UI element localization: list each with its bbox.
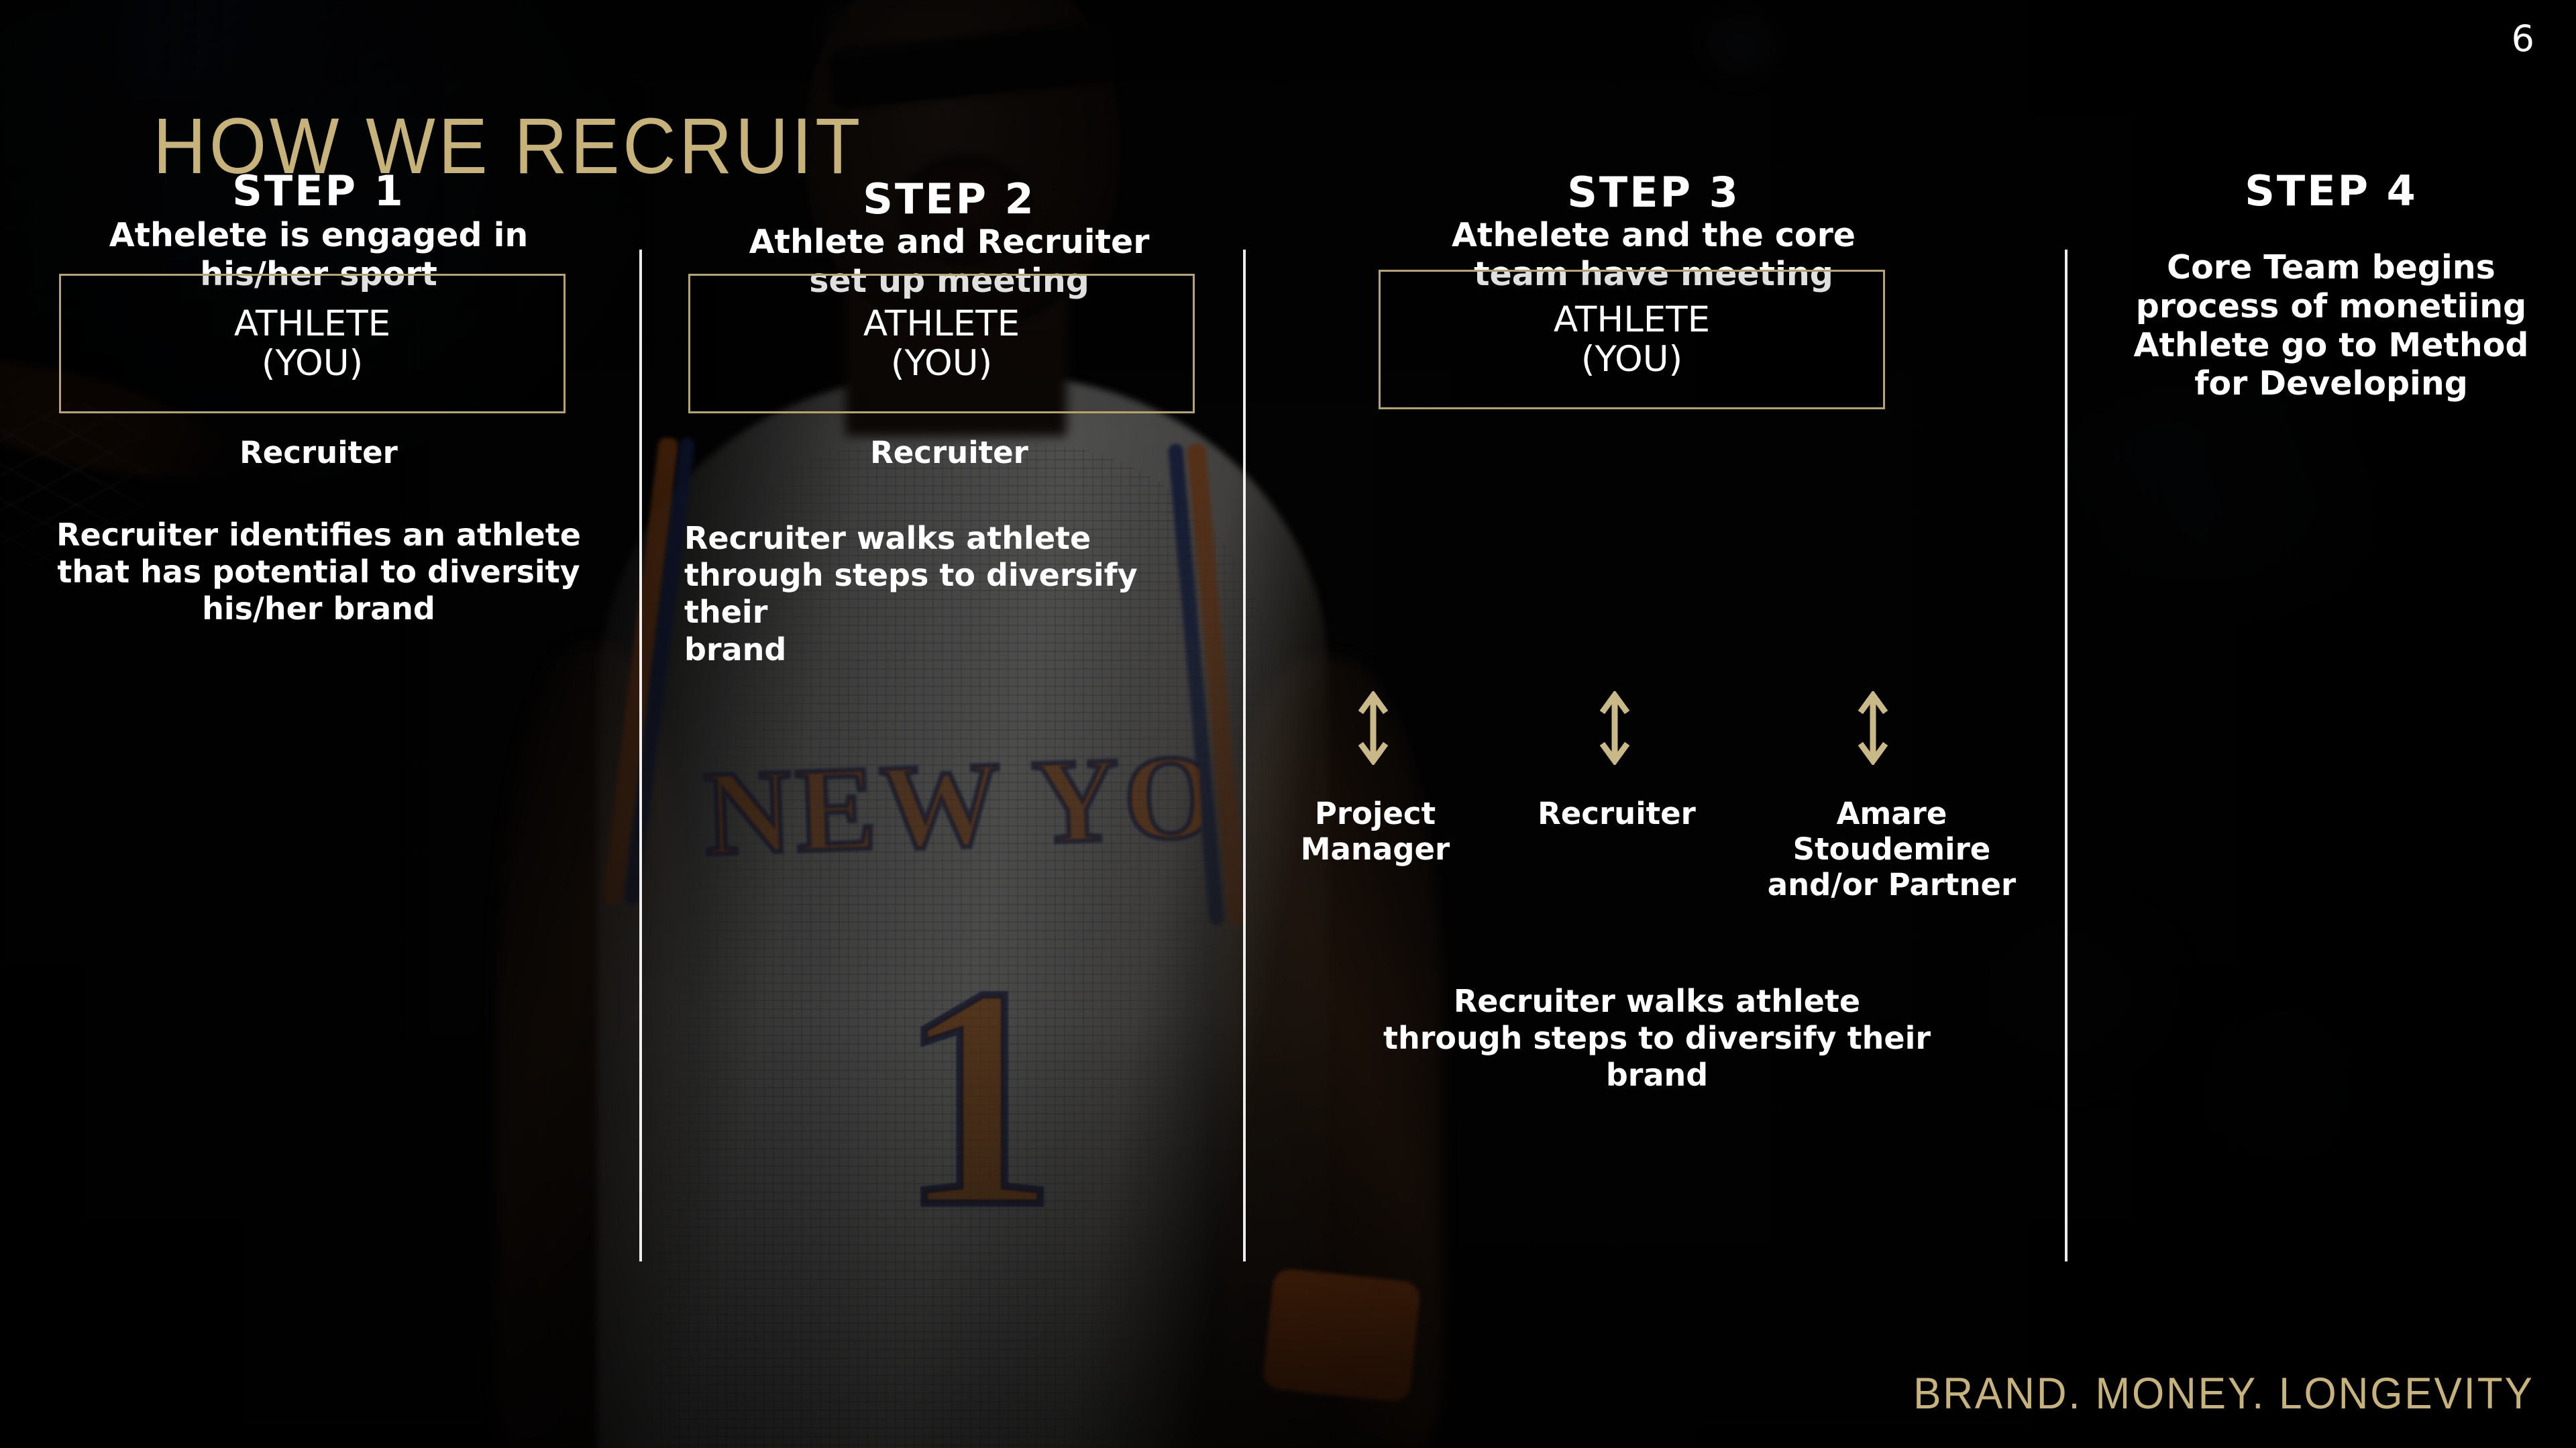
step-3-body-text: Recruiter walks athlete through steps to… [1295,983,2019,1094]
double-arrow-icon-project-manager [1358,691,1388,765]
slide-content: 6 HOW WE RECRUIT STEP 1 Athelete is enga… [0,0,2576,1448]
step-1-role-recruiter: Recruiter [20,435,617,470]
athlete-box-3: ATHLETE (YOU) [1379,270,1885,409]
step-2-body-text: Recruiter walks athlete through steps to… [684,520,1228,668]
column-divider-3 [2065,250,2068,1261]
step-4-description: Core Team begins process of monetiing At… [2100,248,2563,403]
footer-tagline: BRAND. MONEY. LONGEVITY [1913,1367,2534,1418]
athlete-box-3-line2: (YOU) [1581,340,1682,379]
step-3-role-project-manager: Project Manager [1268,796,1483,867]
athlete-box-2-line2: (YOU) [891,344,992,383]
step-3-role-recruiter: Recruiter [1516,796,1717,831]
athlete-box-1-line2: (YOU) [262,344,363,383]
step-2-title: STEP 2 [671,174,1228,223]
step-4-title: STEP 4 [2100,166,2563,215]
step-3-role-amare-stoudemire: Amare Stoudemire and/or Partner [1737,796,2046,902]
athlete-box-1-line1: ATHLETE [234,304,390,344]
step-1-body-text: Recruiter identifies an athlete that has… [27,517,610,628]
double-arrow-icon-recruiter [1600,691,1629,765]
column-divider-1 [639,250,642,1261]
page-number: 6 [2512,17,2534,60]
step-3-title: STEP 3 [1268,168,2039,217]
double-arrow-icon-amare-stoudemire [1858,691,1888,765]
step-1-title: STEP 1 [20,166,617,215]
athlete-box-3-line1: ATHLETE [1554,300,1710,340]
athlete-box-2: ATHLETE (YOU) [688,274,1195,413]
step-2-role-recruiter: Recruiter [671,435,1228,470]
presentation-slide: NEW YORK 1 6 HOW WE RECRUIT STEP 1 Athel… [0,0,2576,1448]
athlete-box-1: ATHLETE (YOU) [59,274,566,413]
column-divider-2 [1243,250,1246,1261]
athlete-box-2-line1: ATHLETE [863,304,1020,344]
